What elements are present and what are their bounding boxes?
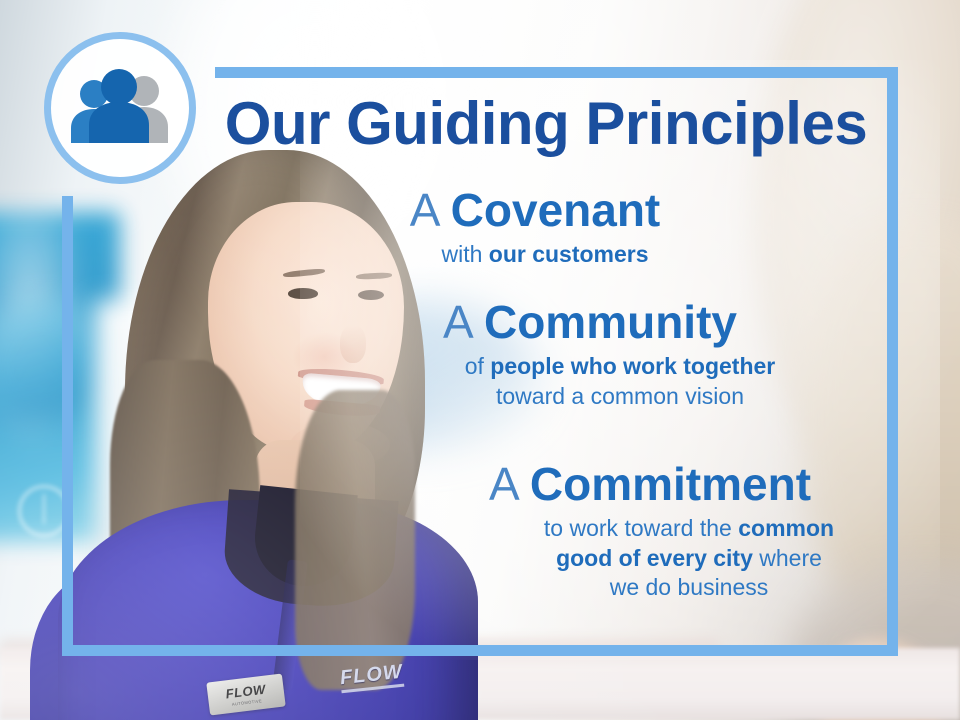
principle-subtext: to work toward the commongood of every c… [280, 514, 960, 602]
principle-word: Commitment [530, 458, 811, 510]
frame-border-bottom [62, 645, 898, 656]
principle-word: Community [484, 296, 737, 348]
principle-subtext: with our customers [165, 240, 905, 269]
principle-article: A [410, 184, 438, 236]
principle-title: A Community [220, 298, 960, 346]
principle-article: A [443, 296, 471, 348]
principle-title: A Commitment [280, 460, 960, 508]
principle-word: Covenant [451, 184, 661, 236]
frame-border-left [62, 196, 73, 656]
people-group-icon [65, 69, 175, 147]
people-group-badge [44, 32, 196, 184]
principle-title: A Covenant [165, 186, 905, 234]
graphic-canvas: FLOW AUTOMOTIVE FLOW Our Guiding [0, 0, 960, 720]
principle-block-covenant: A Covenant with our customers [165, 186, 905, 270]
frame-border-top [215, 67, 898, 78]
principle-block-commitment: A Commitment to work toward the commongo… [280, 460, 960, 603]
page-title: Our Guiding Principles [216, 94, 876, 154]
principle-subtext: of people who work togethertoward a comm… [220, 352, 960, 411]
principle-article: A [489, 458, 517, 510]
principle-block-community: A Community of people who work togethert… [220, 298, 960, 411]
